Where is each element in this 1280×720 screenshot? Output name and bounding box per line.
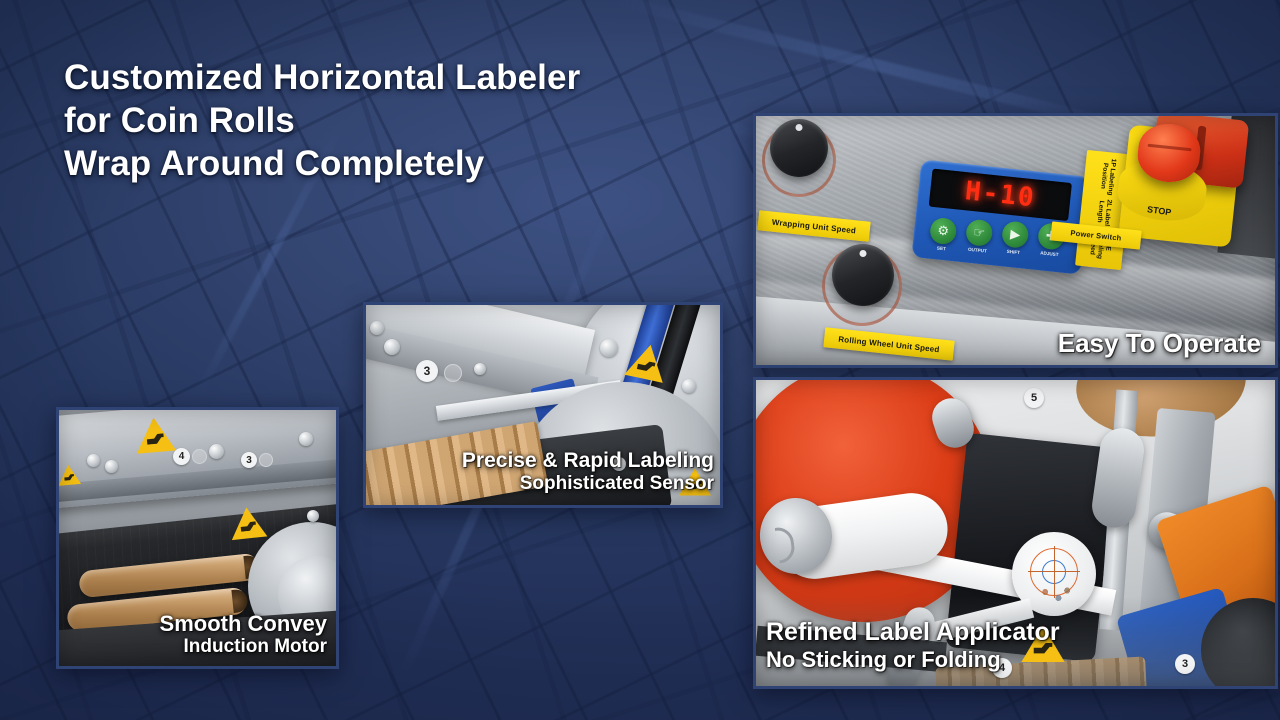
- headline-line-2: for Coin Rolls: [64, 99, 804, 142]
- bolt-icon: [87, 454, 100, 467]
- gear-icon[interactable]: ⚙: [929, 217, 958, 246]
- led-display-value: H-10: [964, 176, 1037, 213]
- button-label-set: SET: [926, 244, 956, 252]
- marker-disc-3: 3: [1175, 654, 1195, 674]
- photo-card-precise-labeling[interactable]: 3 Precise & Rapid Labeling Sophisticated…: [363, 302, 723, 508]
- caption-easy-to-operate: Easy To Operate: [1058, 329, 1261, 359]
- headline-line-1: Customized Horizontal Labeler: [64, 56, 804, 99]
- marker-ring: [192, 449, 207, 464]
- dial-crosshair-h: [1028, 571, 1080, 572]
- bolt-icon: [384, 339, 400, 355]
- marker-disc-3: 3: [241, 452, 257, 468]
- led-display: H-10: [929, 169, 1072, 221]
- mode-label-labeling-position: 1P Labeling Position: [1098, 156, 1117, 198]
- caption-line-2: No Sticking or Folding: [766, 647, 1060, 672]
- bolt-icon: [370, 321, 384, 335]
- caption-line-2: Sophisticated Sensor: [462, 473, 714, 495]
- bolt-icon: [105, 460, 118, 473]
- button-label-shift: SHIFT: [998, 248, 1028, 256]
- button-label-adjust: ADJUST: [1034, 250, 1064, 258]
- caption-line-1: Precise & Rapid Labeling: [462, 449, 714, 473]
- marker-ring: [259, 453, 273, 467]
- bolt-icon: [209, 444, 224, 459]
- bolt-icon: [307, 510, 319, 522]
- headline-line-3: Wrap Around Completely: [64, 142, 804, 185]
- wrapping-unit-speed-knob[interactable]: [770, 119, 828, 177]
- slide-stage: Customized Horizontal Labeler for Coin R…: [0, 0, 1280, 720]
- caption-line-2: Induction Motor: [160, 636, 327, 658]
- caption-line-1: Refined Label Applicator: [766, 618, 1060, 647]
- marker-ring: [444, 364, 462, 382]
- caption-line-1: Easy To Operate: [1058, 329, 1261, 359]
- bolt-icon: [299, 432, 313, 446]
- hand-icon[interactable]: ☞: [965, 219, 994, 248]
- bolt-icon: [682, 379, 696, 393]
- rolling-wheel-unit-speed-knob[interactable]: [832, 244, 894, 306]
- photo-card-smooth-convey[interactable]: 4 3 Smooth Convey Induction Motor: [56, 407, 339, 669]
- marker-disc-5: 5: [1024, 388, 1044, 408]
- photo-card-refined-applicator[interactable]: 5 4 3 Refined Label Applicator No Sticki…: [753, 377, 1278, 689]
- bolt-icon: [474, 363, 486, 375]
- caption-precise-labeling: Precise & Rapid Labeling Sophisticated S…: [462, 449, 714, 495]
- photo-card-easy-to-operate[interactable]: Wrapping Unit Speed Rolling Wheel Unit S…: [753, 113, 1278, 368]
- bolt-icon: [600, 339, 618, 357]
- marker-disc-4: 4: [173, 448, 190, 465]
- hmi-control-panel[interactable]: H-10 ⚙ SET ☞ OUTPUT ▶ SHIFT ✚ ADJUST: [911, 159, 1090, 274]
- mode-label-label-length: 2L Label Length: [1095, 196, 1113, 229]
- marker-disc-3: 3: [416, 360, 438, 382]
- caption-smooth-convey: Smooth Convey Induction Motor: [160, 611, 327, 658]
- play-icon[interactable]: ▶: [1001, 220, 1030, 249]
- page-title: Customized Horizontal Labeler for Coin R…: [64, 56, 804, 185]
- caption-refined-applicator: Refined Label Applicator No Sticking or …: [766, 618, 1060, 672]
- caption-line-1: Smooth Convey: [160, 611, 327, 636]
- button-label-output: OUTPUT: [962, 246, 992, 254]
